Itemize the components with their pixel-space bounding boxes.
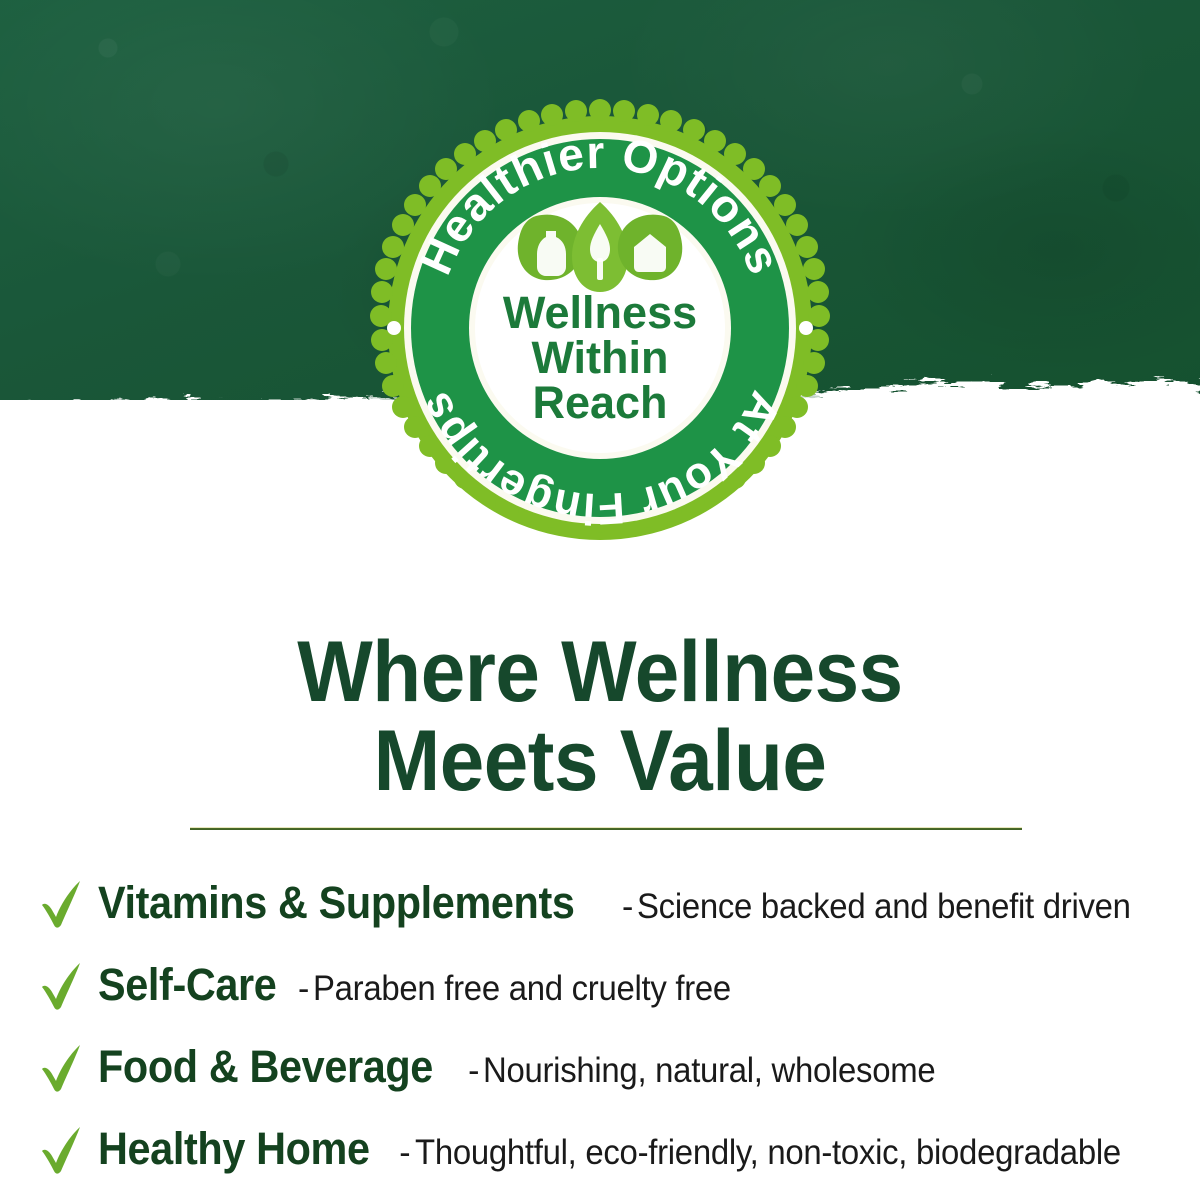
list-item-description: Thoughtful, eco-friendly, non-toxic, bio… xyxy=(415,1133,1121,1173)
headline-line-1: Where Wellness xyxy=(42,628,1158,717)
check-icon xyxy=(36,1121,88,1177)
list-item-text: Self-Care - Paraben free and cruelty fre… xyxy=(98,959,758,1011)
list-item: Vitamins & Supplements - Science backed … xyxy=(0,866,1200,940)
badge-dot-right xyxy=(799,321,813,335)
list-item-separator: - xyxy=(462,1052,483,1091)
list-item: Self-Care - Paraben free and cruelty fre… xyxy=(0,948,1200,1022)
check-icon-svg xyxy=(36,875,88,931)
list-item: Healthy Home - Thoughtful, eco-friendly,… xyxy=(0,1112,1200,1186)
list-item-title: Healthy Home xyxy=(98,1123,370,1175)
list-item-title: Self-Care xyxy=(98,959,276,1011)
check-icon xyxy=(36,957,88,1013)
list-item-description: Nourishing, natural, wholesome xyxy=(483,1051,935,1091)
badge-center-line-2: Within xyxy=(531,332,668,383)
list-item-separator: - xyxy=(393,1134,414,1173)
wellness-badge-svg: Healthier Options At Your Fingertips xyxy=(370,98,830,558)
list-item-title: Vitamins & Supplements xyxy=(98,877,575,929)
list-item-text: Healthy Home - Thoughtful, eco-friendly,… xyxy=(98,1123,1166,1175)
badge-dot-left xyxy=(387,321,401,335)
headline-line-2: Meets Value xyxy=(42,717,1158,806)
check-icon xyxy=(36,1039,88,1095)
list-item-description: Science backed and benefit driven xyxy=(637,887,1131,927)
list-item-title: Food & Beverage xyxy=(98,1041,433,1093)
headline-divider xyxy=(190,827,1022,830)
wellness-badge: Healthier Options At Your Fingertips xyxy=(370,98,830,558)
check-icon xyxy=(36,875,88,931)
list-item: Food & Beverage - Nourishing, natural, w… xyxy=(0,1030,1200,1104)
feature-list: Vitamins & Supplements - Science backed … xyxy=(0,866,1200,1186)
list-item-description: Paraben free and cruelty free xyxy=(313,969,731,1009)
headline: Where Wellness Meets Value xyxy=(42,628,1158,805)
leaf-house-icon xyxy=(618,215,682,281)
list-item-text: Food & Beverage - Nourishing, natural, w… xyxy=(98,1041,965,1093)
badge-center-line-1: Wellness xyxy=(503,287,697,338)
list-item-separator: - xyxy=(292,970,313,1009)
badge-center-line-3: Reach xyxy=(532,377,667,428)
list-item-separator: - xyxy=(616,888,637,927)
check-icon-svg xyxy=(36,957,88,1013)
check-icon-svg xyxy=(36,1039,88,1095)
leaf-bottle-icon xyxy=(518,215,582,281)
badge-leaf-icons xyxy=(518,202,683,292)
check-icon-svg xyxy=(36,1121,88,1177)
promo-banner: Healthier Options At Your Fingertips xyxy=(0,0,1200,1200)
list-item-text: Vitamins & Supplements - Science backed … xyxy=(98,877,1163,929)
